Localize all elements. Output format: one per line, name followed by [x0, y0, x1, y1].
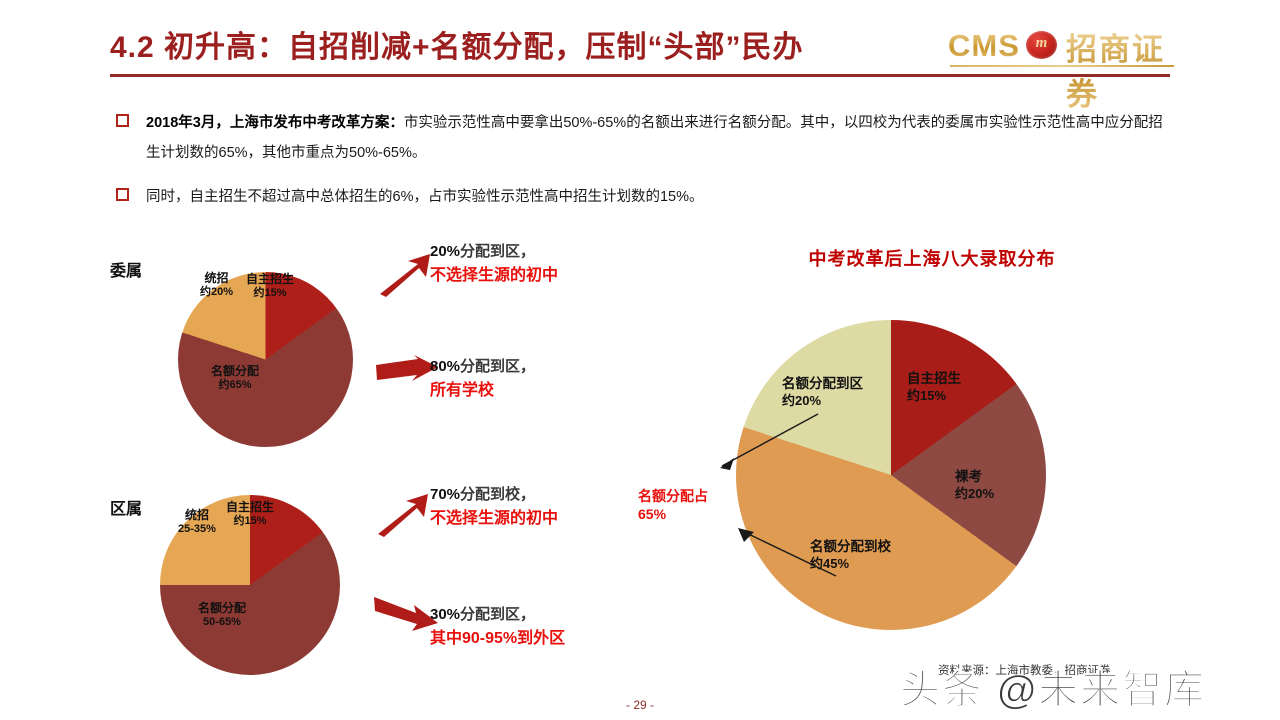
pie-label-name: 裸考: [955, 468, 994, 486]
header-divider: [110, 74, 1170, 77]
arrow-up-right-icon: [376, 492, 438, 538]
callout-line-2: 不选择生源的初中: [430, 504, 558, 528]
pie-label-value: 约20%: [955, 486, 994, 503]
callout-qushu-2: 30%分配到区， 其中90-95%到外区: [430, 603, 565, 648]
callout-percent: 70%: [430, 486, 460, 503]
bullet-text: 同时，自主招生不超过高中总体招生的6%，占市实验性示范性高中招生计划数的15%。: [146, 182, 1172, 212]
pie-label: 统招 约20%: [200, 271, 233, 300]
bullet-emphasis: 2018年3月，上海市发布中考改革方案：: [146, 115, 404, 131]
pie-label-value: 约65%: [211, 379, 259, 393]
pie-caption-weishu: 委属: [110, 257, 142, 281]
logo-chinese-text: 招商证券: [1066, 24, 1176, 114]
pie-label: 名额分配 约65%: [211, 364, 259, 393]
pie-label-value: 约15%: [226, 515, 274, 529]
annotation-line-1: 名额分配占: [638, 487, 708, 505]
list-item: 2018年3月，上海市发布中考改革方案：市实验示范性高中要拿出50%-65%的名…: [112, 108, 1172, 168]
right-chart-title: 中考改革后上海八大录取分布: [742, 245, 1122, 271]
callout-line-2: 所有学校: [430, 376, 535, 400]
callout-line-1: 20%分配到区，: [430, 240, 558, 261]
callout-percent: 30%: [430, 606, 460, 623]
callout-weishu-1: 20%分配到区， 不选择生源的初中: [430, 240, 558, 285]
callout-percent: 80%: [430, 358, 460, 375]
pie-label-name: 自主招生: [246, 272, 294, 287]
big-pie-label-zizhu: 自主招生 约15%: [907, 370, 961, 404]
pie-label: 统招 25-35%: [178, 508, 216, 537]
pie-label-name: 统招: [200, 271, 233, 286]
pie-label-name: 自主招生: [226, 500, 274, 515]
annotation-quota-share: 名额分配占 65%: [638, 487, 708, 523]
callout-line-1: 30%分配到区，: [430, 603, 565, 624]
logo-badge-icon: m: [1026, 31, 1057, 59]
pie-label: 自主招生 约15%: [246, 272, 294, 301]
callout-tail: 分配到区，: [460, 358, 535, 375]
callout-qushu-1: 70%分配到校， 不选择生源的初中: [430, 483, 558, 528]
page-number: - 29 -: [0, 698, 1280, 712]
pie-label-value: 约20%: [200, 286, 233, 300]
pie-label-value: 约20%: [782, 393, 863, 410]
pie-label: 名额分配 50-65%: [198, 601, 246, 630]
pie-label-value: 50-65%: [198, 616, 246, 630]
pie-caption-qushu: 区属: [110, 495, 142, 519]
big-pie-label-luokao: 裸考 约20%: [955, 468, 994, 502]
source-note: 资料来源：上海市教委，招商证券: [938, 662, 1111, 678]
bullet-square-icon: [116, 114, 129, 127]
logo-badge-glyph: m: [1026, 35, 1057, 52]
annotation-line-2: 65%: [638, 505, 708, 523]
callout-line-1: 80%分配到区，: [430, 355, 535, 376]
pie-label-value: 约15%: [907, 388, 961, 405]
callout-line-1: 70%分配到校，: [430, 483, 558, 504]
callout-tail: 分配到校，: [460, 486, 535, 503]
pie-label-value: 约15%: [246, 287, 294, 301]
bullet-text: 2018年3月，上海市发布中考改革方案：市实验示范性高中要拿出50%-65%的名…: [146, 108, 1172, 168]
page-title: 4.2 初升高：自招削减+名额分配，压制“头部”民办: [110, 22, 804, 66]
callout-percent: 20%: [430, 243, 460, 260]
bullet-body: 同时，自主招生不超过高中总体招生的6%，占市实验性示范性高中招生计划数的15%。: [146, 189, 703, 205]
callout-line-2: 其中90-95%到外区: [430, 624, 565, 648]
callout-tail: 分配到区，: [460, 243, 535, 260]
callout-weishu-2: 80%分配到区， 所有学校: [430, 355, 535, 400]
callout-line-2: 不选择生源的初中: [430, 261, 558, 285]
logo-latin-text: CMS: [948, 28, 1020, 64]
big-pie-label-toqu: 名额分配到区 约20%: [782, 375, 863, 409]
bullet-square-icon: [116, 188, 129, 201]
pie-label: 自主招生 约15%: [226, 500, 274, 529]
bullet-list: 2018年3月，上海市发布中考改革方案：市实验示范性高中要拿出50%-65%的名…: [112, 108, 1172, 226]
pie-label-name: 名额分配: [211, 364, 259, 379]
logo-underline: [950, 65, 1174, 67]
list-item: 同时，自主招生不超过高中总体招生的6%，占市实验性示范性高中招生计划数的15%。: [112, 182, 1172, 212]
slide: 4.2 初升高：自招削减+名额分配，压制“头部”民办 CMS m 招商证券 20…: [0, 0, 1280, 720]
cms-logo: CMS m 招商证券: [948, 24, 1176, 70]
pie-label-value: 25-35%: [178, 523, 216, 537]
pie-label-name: 名额分配到区: [782, 375, 863, 393]
pie-label-name: 名额分配: [198, 601, 246, 616]
leader-line-upper-icon: [700, 408, 830, 478]
pie-label-name: 统招: [178, 508, 216, 523]
callout-tail: 分配到区，: [460, 606, 535, 623]
leader-line-lower-icon: [716, 520, 846, 582]
pie-label-name: 自主招生: [907, 370, 961, 388]
